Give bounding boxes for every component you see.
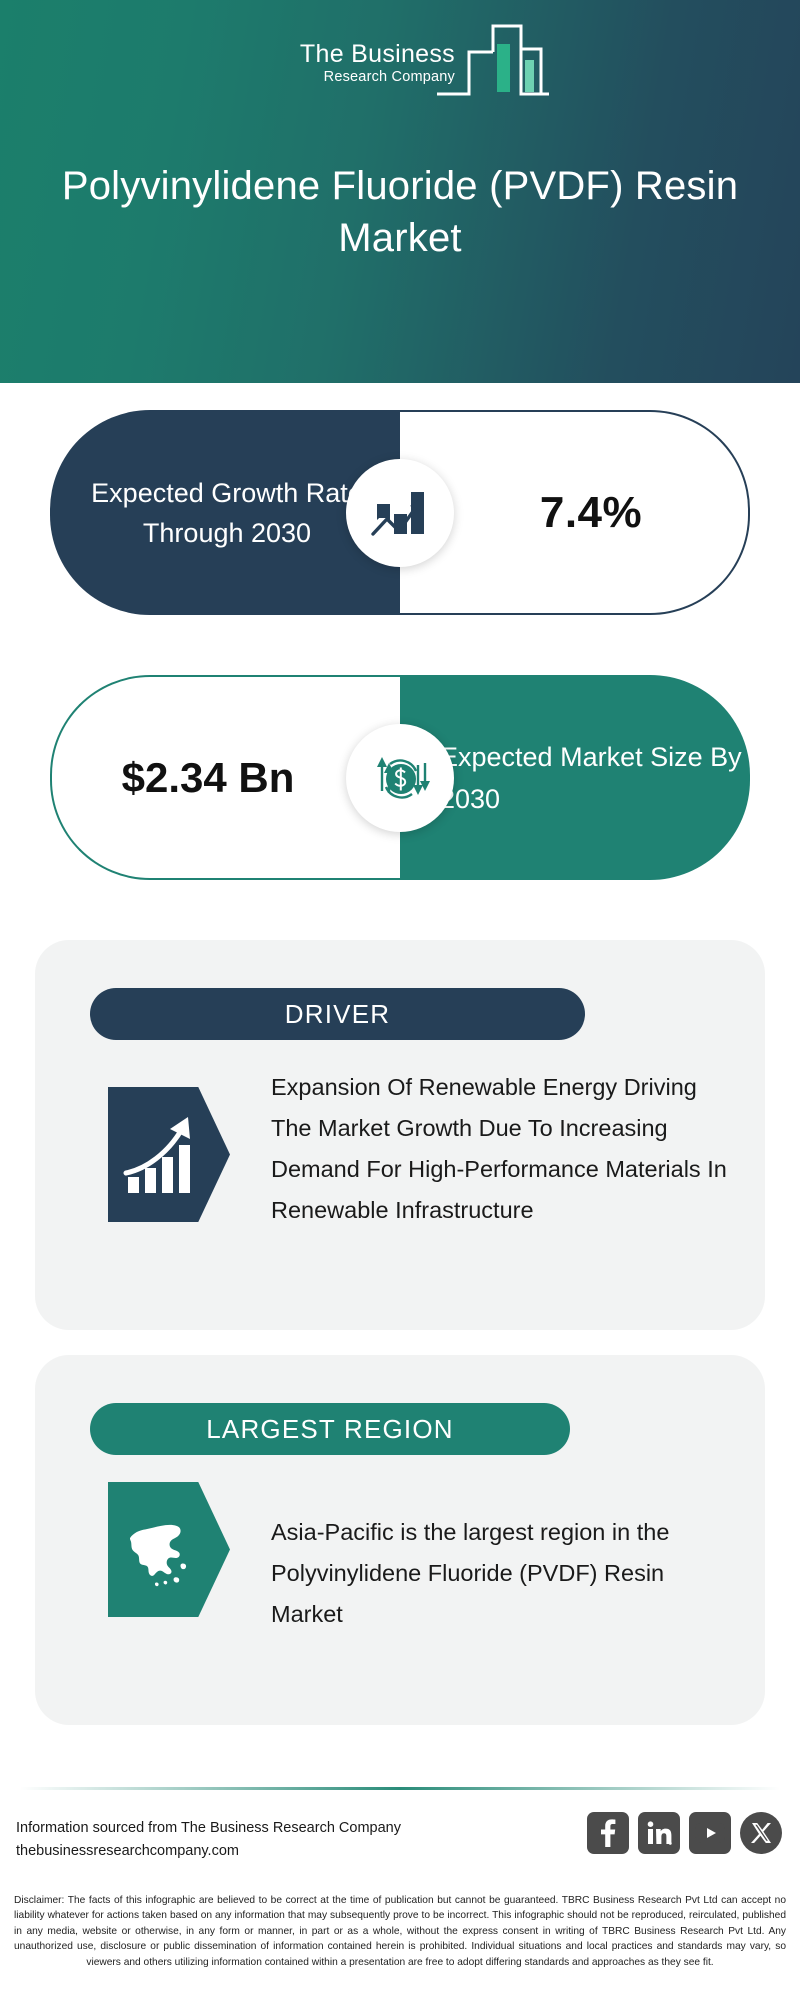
driver-heading-pill: DRIVER [90,988,585,1040]
stat-growth-rate: Expected Growth Rate Through 2030 7.4% [50,410,750,615]
asia-map-icon [108,1482,230,1617]
dollar-cycle-icon [346,724,454,832]
header-banner: The Business Research Company Polyvinyli… [0,0,800,383]
youtube-icon[interactable] [689,1812,731,1854]
footer-source-line-1: Information sourced from The Business Re… [16,1817,401,1840]
logo-line-2: Research Company [250,68,455,86]
driver-heading-label: DRIVER [285,999,390,1030]
logo-line-1: The Business [250,40,455,68]
growth-curve-bars-icon [108,1087,230,1222]
driver-panel: DRIVER Expansion Of Renewable Energy Dri… [35,940,765,1330]
region-heading-label: LARGEST REGION [206,1414,454,1445]
region-heading-pill: LARGEST REGION [90,1403,570,1455]
facebook-icon[interactable] [587,1812,629,1854]
company-logo: The Business Research Company [0,22,800,102]
linkedin-icon[interactable] [638,1812,680,1854]
stat-growth-rate-value: 7.4% [506,488,642,538]
footer-source-line-2[interactable]: thebusinessresearchcompany.com [16,1840,401,1863]
disclaimer-text: Disclaimer: The facts of this infographi… [14,1893,786,1970]
driver-body-text: Expansion Of Renewable Energy Driving Th… [271,1067,736,1231]
region-body-text: Asia-Pacific is the largest region in th… [271,1512,736,1635]
stat-market-size: $2.34 Bn Expected Market Size By 2030 [50,675,750,880]
x-twitter-icon[interactable] [740,1812,782,1854]
stat-market-size-value: $2.34 Bn [122,752,331,804]
page-title: Polyvinylidene Fluoride (PVDF) Resin Mar… [50,160,750,264]
infographic-page: The Business Research Company Polyvinyli… [0,0,800,2000]
social-links [587,1812,782,1854]
bar-chart-growth-icon [346,459,454,567]
logo-wordmark: The Business Research Company [250,40,455,86]
largest-region-panel: LARGEST REGION Asia-Pacific is the large… [35,1355,765,1725]
footer-source: Information sourced from The Business Re… [16,1817,401,1863]
logo-bar-chart-icon [435,22,551,105]
footer-divider [20,1787,780,1790]
